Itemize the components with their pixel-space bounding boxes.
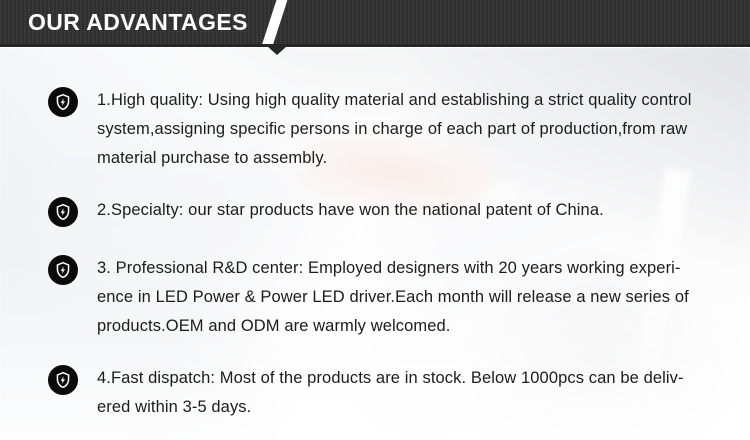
header-notch-arrow-icon — [267, 46, 287, 55]
advantage-text: 2.Specialty: our star products have won … — [97, 196, 737, 225]
header-divider-rule — [0, 44, 750, 47]
advantage-text-line: products.OEM and ODM are warmly welcomed… — [97, 312, 737, 341]
header-bar: OUR ADVANTAGES — [0, 0, 750, 44]
advantage-text: 3. Professional R&D center: Employed des… — [97, 254, 737, 341]
shield-bolt-icon — [48, 87, 78, 117]
page-title: OUR ADVANTAGES — [28, 9, 248, 35]
advantage-text-line: material purchase to assembly. — [97, 144, 737, 173]
advantage-text-line: 2.Specialty: our star products have won … — [97, 196, 737, 225]
advantages-page: OUR ADVANTAGES 1.High quality: Using hig… — [0, 0, 750, 440]
advantage-text-line: ence in LED Power & Power LED driver.Eac… — [97, 283, 737, 312]
advantage-text-line: 4.Fast dispatch: Most of the products ar… — [97, 364, 737, 393]
header-slash-accent — [260, 0, 289, 44]
shield-bolt-icon — [48, 365, 78, 395]
shield-bolt-icon — [48, 255, 78, 285]
advantage-text-line: 1.High quality: Using high quality mater… — [97, 86, 737, 115]
advantage-text-line: system,assigning specific persons in cha… — [97, 115, 737, 144]
advantage-text-line: 3. Professional R&D center: Employed des… — [97, 254, 737, 283]
advantage-text: 4.Fast dispatch: Most of the products ar… — [97, 364, 737, 422]
advantage-text-line: ered within 3-5 days. — [97, 393, 737, 422]
advantage-text: 1.High quality: Using high quality mater… — [97, 86, 737, 173]
shield-bolt-icon — [48, 197, 78, 227]
